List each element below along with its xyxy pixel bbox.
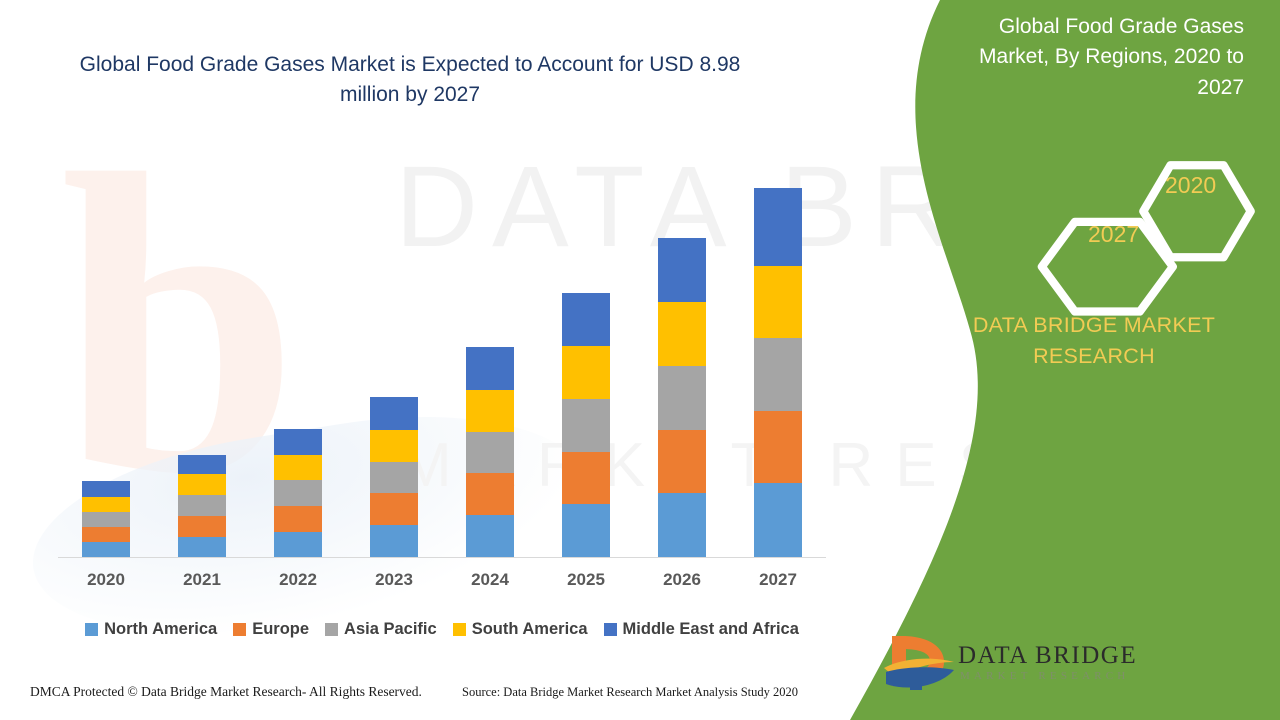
logo-name: DATA BRIDGE xyxy=(958,642,1137,670)
data-bridge-logo: DATA BRIDGE MARKET RESEARCH xyxy=(880,628,1110,700)
bar-segment xyxy=(178,474,226,495)
x-axis-tick-2026: 2026 xyxy=(634,570,730,596)
legend-item: Asia Pacific xyxy=(325,620,437,639)
bar-column-2021 xyxy=(154,170,250,558)
bar-segment xyxy=(82,481,130,497)
bar-segment xyxy=(466,515,514,558)
bar-segment xyxy=(370,397,418,430)
x-axis-tick-2025: 2025 xyxy=(538,570,634,596)
dmca-notice: DMCA Protected © Data Bridge Market Rese… xyxy=(30,684,422,700)
bar-column-2025 xyxy=(538,170,634,558)
bar-segment xyxy=(274,506,322,532)
bar-segment xyxy=(82,542,130,558)
bar-column-2022 xyxy=(250,170,346,558)
bar-segment xyxy=(274,480,322,506)
bar-segment xyxy=(658,430,706,494)
x-axis-line xyxy=(58,557,826,558)
legend-item: Middle East and Africa xyxy=(604,620,799,639)
stacked-bar xyxy=(562,293,610,558)
bar-segment xyxy=(754,483,802,558)
chart-page: b DATA BRIDGE MARKET RESEARCH Global Foo… xyxy=(0,0,1280,720)
bar-segment xyxy=(82,512,130,527)
bar-column-2027 xyxy=(730,170,826,558)
x-axis-tick-2024: 2024 xyxy=(442,570,538,596)
bar-column-2026 xyxy=(634,170,730,558)
legend-item: Europe xyxy=(233,620,309,639)
bar-segment xyxy=(658,493,706,558)
stacked-bar xyxy=(274,429,322,558)
bar-segment xyxy=(658,302,706,366)
legend-swatch-icon xyxy=(233,623,246,636)
bar-segment xyxy=(274,532,322,558)
bar-segment xyxy=(274,429,322,455)
bar-segment xyxy=(178,537,226,558)
bar-segment xyxy=(466,473,514,515)
stacked-bar xyxy=(82,481,130,558)
legend-item: North America xyxy=(85,620,217,639)
bar-segment xyxy=(562,504,610,558)
logo-tagline: MARKET RESEARCH xyxy=(960,670,1129,682)
bar-segment xyxy=(562,346,610,399)
footer: DMCA Protected © Data Bridge Market Rese… xyxy=(0,678,845,712)
logo-mark-icon xyxy=(880,628,960,694)
bar-segment xyxy=(370,430,418,462)
stacked-bar xyxy=(658,238,706,558)
stacked-bar-chart xyxy=(58,170,826,558)
bar-segment xyxy=(274,455,322,481)
x-axis-tick-2027: 2027 xyxy=(730,570,826,596)
legend-item: South America xyxy=(453,620,588,639)
bar-segment xyxy=(562,452,610,505)
bar-segment xyxy=(562,399,610,452)
bar-column-2023 xyxy=(346,170,442,558)
x-axis-tick-2020: 2020 xyxy=(58,570,154,596)
bar-segment xyxy=(370,462,418,494)
bar-segment xyxy=(466,347,514,390)
green-panel-title: Global Food Grade Gases Market, By Regio… xyxy=(954,12,1244,103)
x-axis-tick-2022: 2022 xyxy=(250,570,346,596)
x-axis-tick-2021: 2021 xyxy=(154,570,250,596)
stacked-bar xyxy=(466,347,514,558)
x-axis-tick-2023: 2023 xyxy=(346,570,442,596)
bar-column-2024 xyxy=(442,170,538,558)
legend-swatch-icon xyxy=(85,623,98,636)
bar-segment xyxy=(178,516,226,537)
legend-swatch-icon xyxy=(325,623,338,636)
legend-label: North America xyxy=(104,620,217,639)
bar-segment xyxy=(562,293,610,346)
legend-label: Asia Pacific xyxy=(344,620,437,639)
legend-swatch-icon xyxy=(604,623,617,636)
bar-segment xyxy=(658,238,706,303)
bar-segment xyxy=(658,366,706,430)
bar-segment xyxy=(370,525,418,558)
bar-segment xyxy=(82,497,130,512)
stacked-bar xyxy=(370,397,418,558)
bar-segment xyxy=(754,338,802,411)
chart-legend: North AmericaEuropeAsia PacificSouth Ame… xyxy=(58,617,826,641)
bar-segment xyxy=(754,411,802,484)
stacked-bar xyxy=(754,188,802,558)
chart-title: Global Food Grade Gases Market is Expect… xyxy=(60,50,760,111)
bar-segment xyxy=(82,527,130,542)
x-axis-labels: 20202021202220232024202520262027 xyxy=(58,570,826,596)
bar-segment xyxy=(370,493,418,525)
bar-segment xyxy=(466,390,514,432)
legend-label: South America xyxy=(472,620,588,639)
bar-column-2020 xyxy=(58,170,154,558)
source-note: Source: Data Bridge Market Research Mark… xyxy=(462,685,798,700)
bar-segment xyxy=(178,455,226,475)
bar-segment xyxy=(466,432,514,474)
legend-label: Europe xyxy=(252,620,309,639)
legend-swatch-icon xyxy=(453,623,466,636)
bar-segment xyxy=(754,188,802,266)
stacked-bar xyxy=(178,455,226,558)
bar-segment xyxy=(754,266,802,339)
bar-segment xyxy=(178,495,226,516)
legend-label: Middle East and Africa xyxy=(623,620,799,639)
green-panel-brand: DATA BRIDGE MARKET RESEARCH xyxy=(944,310,1244,372)
